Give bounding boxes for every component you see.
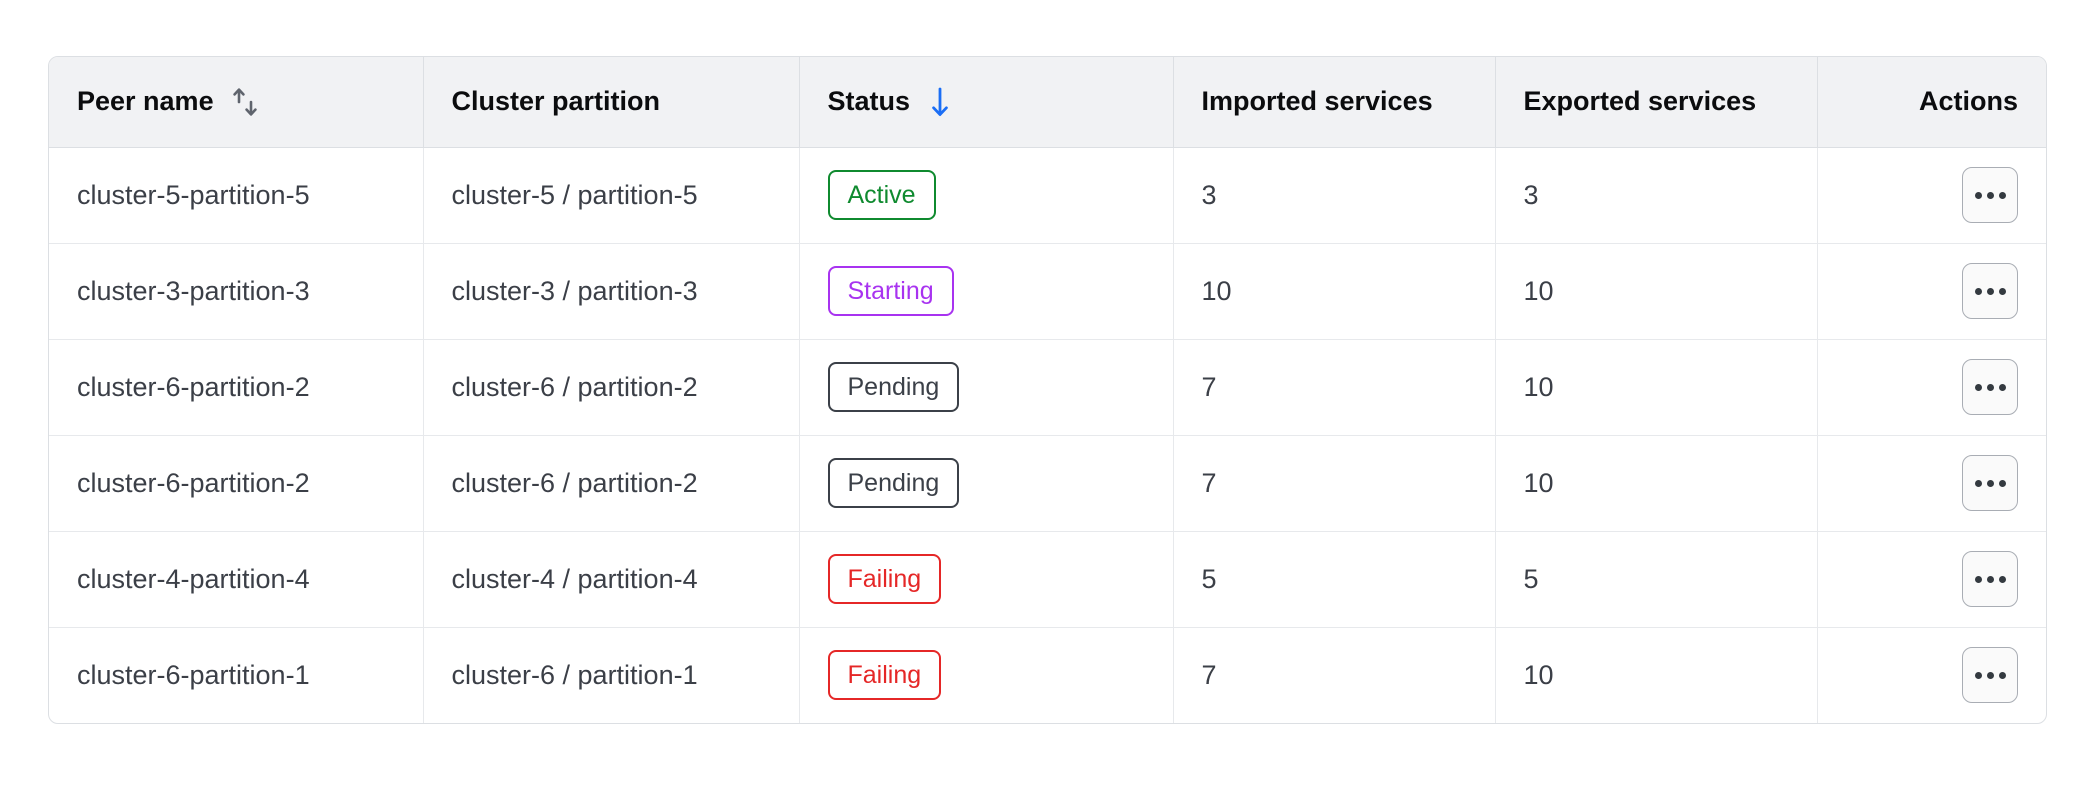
table-row[interactable]: cluster-6-partition-2cluster-6 / partiti…: [49, 339, 2046, 435]
cell-imported-services: 10: [1173, 243, 1495, 339]
row-actions-menu-button[interactable]: [1962, 455, 2018, 511]
cell-exported-services: 10: [1495, 435, 1817, 531]
cell-peer-name: cluster-6-partition-2: [49, 339, 423, 435]
column-header-imported-services[interactable]: Imported services: [1173, 57, 1495, 147]
table-body: cluster-5-partition-5cluster-5 / partiti…: [49, 147, 2046, 723]
cell-peer-name: cluster-4-partition-4: [49, 531, 423, 627]
table-header: Peer name: [49, 57, 2046, 147]
column-header-label: Exported services: [1524, 86, 1757, 117]
status-badge-label: Starting: [848, 279, 934, 304]
row-actions-menu-button[interactable]: [1962, 167, 2018, 223]
cell-peer-name: cluster-3-partition-3: [49, 243, 423, 339]
column-header-status[interactable]: Status: [799, 57, 1173, 147]
status-badge-label: Failing: [848, 663, 922, 688]
cell-actions: [1817, 627, 2046, 723]
cell-peer-name: cluster-5-partition-5: [49, 147, 423, 243]
status-badge-label: Pending: [848, 471, 940, 496]
cell-exported-services: 10: [1495, 627, 1817, 723]
cell-status: Starting: [799, 243, 1173, 339]
cell-imported-services: 5: [1173, 531, 1495, 627]
peers-table-container: Peer name: [48, 56, 2047, 724]
table-row[interactable]: cluster-4-partition-4cluster-4 / partiti…: [49, 531, 2046, 627]
cell-exported-services: 5: [1495, 531, 1817, 627]
column-header-actions: Actions: [1817, 57, 2046, 147]
more-horizontal-icon: [1975, 480, 2006, 487]
column-header-peer-name[interactable]: Peer name: [49, 57, 423, 147]
cell-exported-services: 10: [1495, 243, 1817, 339]
peers-table-page: Peer name: [0, 0, 2096, 808]
status-badge-label: Failing: [848, 567, 922, 592]
cell-imported-services: 7: [1173, 627, 1495, 723]
cell-exported-services: 10: [1495, 339, 1817, 435]
column-header-label: Status: [828, 86, 911, 117]
status-badge-label: Pending: [848, 375, 940, 400]
cell-status: Failing: [799, 531, 1173, 627]
cell-peer-name: cluster-6-partition-1: [49, 627, 423, 723]
cell-exported-services: 3: [1495, 147, 1817, 243]
table-row[interactable]: cluster-5-partition-5cluster-5 / partiti…: [49, 147, 2046, 243]
cell-cluster-partition: cluster-6 / partition-1: [423, 627, 799, 723]
status-badge-label: Active: [848, 183, 916, 208]
table-row[interactable]: cluster-6-partition-1cluster-6 / partiti…: [49, 627, 2046, 723]
row-actions-menu-button[interactable]: [1962, 551, 2018, 607]
more-horizontal-icon: [1975, 576, 2006, 583]
table-row[interactable]: cluster-3-partition-3cluster-3 / partiti…: [49, 243, 2046, 339]
cell-cluster-partition: cluster-5 / partition-5: [423, 147, 799, 243]
cell-cluster-partition: cluster-6 / partition-2: [423, 435, 799, 531]
cell-actions: [1817, 243, 2046, 339]
row-actions-menu-button[interactable]: [1962, 647, 2018, 703]
cell-status: Pending: [799, 435, 1173, 531]
cell-imported-services: 3: [1173, 147, 1495, 243]
more-horizontal-icon: [1975, 192, 2006, 199]
cell-cluster-partition: cluster-3 / partition-3: [423, 243, 799, 339]
cell-cluster-partition: cluster-6 / partition-2: [423, 339, 799, 435]
column-header-label: Cluster partition: [452, 86, 661, 117]
cell-peer-name: cluster-6-partition-2: [49, 435, 423, 531]
more-horizontal-icon: [1975, 384, 2006, 391]
column-header-label: Imported services: [1202, 86, 1433, 117]
status-badge: Active: [828, 170, 936, 220]
table-row[interactable]: cluster-6-partition-2cluster-6 / partiti…: [49, 435, 2046, 531]
status-badge: Failing: [828, 554, 942, 604]
status-badge: Pending: [828, 458, 960, 508]
row-actions-menu-button[interactable]: [1962, 263, 2018, 319]
more-horizontal-icon: [1975, 672, 2006, 679]
cell-status: Pending: [799, 339, 1173, 435]
more-horizontal-icon: [1975, 288, 2006, 295]
column-header-cluster-partition[interactable]: Cluster partition: [423, 57, 799, 147]
cell-status: Failing: [799, 627, 1173, 723]
status-badge: Starting: [828, 266, 954, 316]
column-header-exported-services[interactable]: Exported services: [1495, 57, 1817, 147]
cell-imported-services: 7: [1173, 339, 1495, 435]
peers-table: Peer name: [49, 57, 2046, 723]
header-row: Peer name: [49, 57, 2046, 147]
cell-actions: [1817, 339, 2046, 435]
cell-cluster-partition: cluster-4 / partition-4: [423, 531, 799, 627]
cell-imported-services: 7: [1173, 435, 1495, 531]
row-actions-menu-button[interactable]: [1962, 359, 2018, 415]
status-badge: Pending: [828, 362, 960, 412]
cell-actions: [1817, 435, 2046, 531]
column-header-label: Actions: [1919, 86, 2018, 117]
cell-actions: [1817, 147, 2046, 243]
sort-descending-icon[interactable]: [926, 85, 954, 119]
cell-actions: [1817, 531, 2046, 627]
cell-status: Active: [799, 147, 1173, 243]
status-badge: Failing: [828, 650, 942, 700]
sort-both-icon[interactable]: [230, 85, 260, 119]
column-header-label: Peer name: [77, 86, 214, 117]
